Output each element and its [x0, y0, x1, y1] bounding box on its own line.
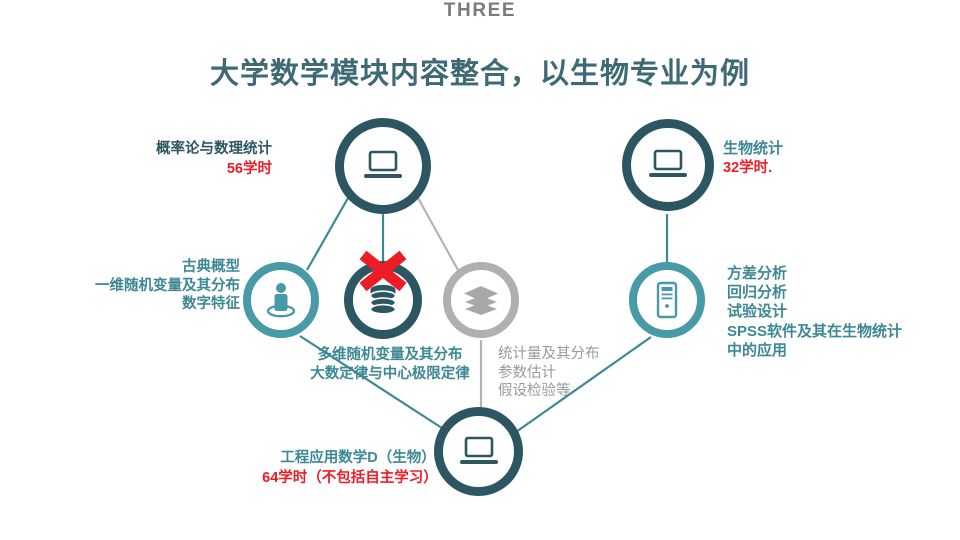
server-icon	[652, 281, 682, 319]
link-probstats-to-sampling	[418, 198, 458, 270]
label-classical-model: 古典概型 一维随机变量及其分布 数字特征	[30, 258, 240, 314]
page-title: 大学数学模块内容整合，以生物专业为例	[0, 50, 960, 92]
node-prob-stats[interactable]	[335, 118, 431, 214]
label-prob-stats-title: 概率论与数理统计	[60, 140, 272, 159]
label-anova: 方差分析 回归分析 试验设计 SPSS软件及其在生物统计 中的应用	[727, 264, 957, 360]
node-classical-model[interactable]	[243, 262, 319, 338]
node-sampling[interactable]	[443, 262, 519, 338]
label-multivariate: 多维随机变量及其分布 大数定律与中心极限定律	[250, 346, 530, 383]
label-sampling: 统计量及其分布 参数估计 假设检验等	[498, 345, 668, 401]
database-icon	[365, 282, 401, 318]
label-biostatistics-title: 生物统计	[723, 139, 923, 158]
label-eng-math-hours: 64学时（不包括自主学习）	[232, 469, 468, 488]
node-multivariate[interactable]	[344, 261, 422, 339]
link-probstats-to-classical	[307, 198, 348, 270]
label-prob-stats-hours: 56学时	[60, 160, 272, 179]
label-biostatistics-hours: 32学时.	[723, 159, 923, 178]
layers-icon	[462, 284, 500, 316]
person-icon	[263, 281, 299, 319]
slide-canvas: THREE 大学数学模块内容整合，以生物专业为例	[0, 0, 960, 540]
node-biostatistics[interactable]	[622, 119, 714, 211]
section-number-label: THREE	[372, 0, 588, 24]
laptop-icon	[646, 147, 690, 183]
node-anova[interactable]	[629, 262, 705, 338]
laptop-icon	[361, 148, 405, 184]
label-eng-math-title: 工程应用数学D（生物）	[240, 449, 476, 468]
